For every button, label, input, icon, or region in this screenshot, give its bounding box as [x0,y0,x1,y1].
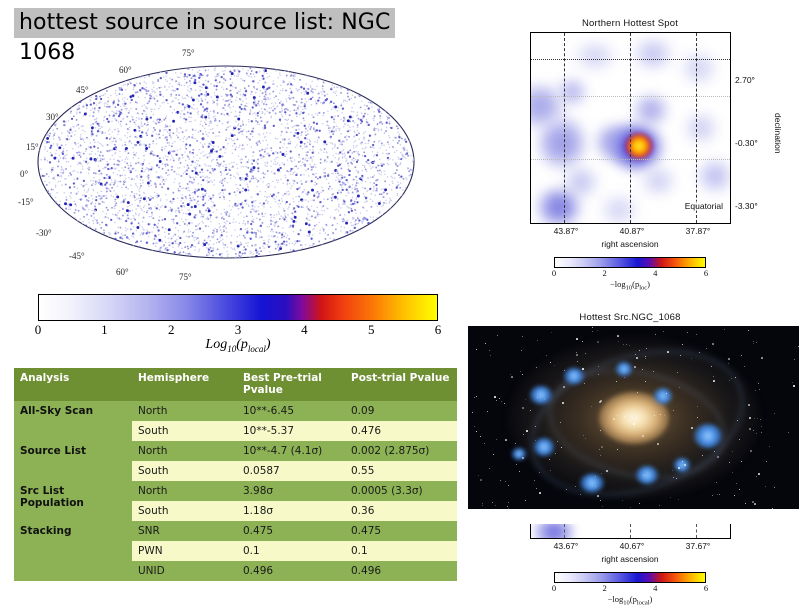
group-label-src-list-population: Src List Population [14,481,132,521]
ra-tick-3: 37.87° [686,226,711,236]
ra-tick-1: 43.67° [554,541,579,551]
cb-label-prefix: −log [608,594,624,604]
colorbar-tick-3: 3 [235,322,242,338]
table-row: Source List North 10**-4.7 (4.1σ) 0.002 … [14,441,457,461]
colorbar-label-suffix: (p [236,337,248,352]
ra-tick-3: 37.67° [686,541,711,551]
cb-label-end: ) [650,594,653,604]
panel-title-northern-hottest-spot: Northern Hottest Spot [530,18,730,29]
ngc-1068-panel: Hottest Src.NGC_1068 [530,312,730,607]
ra-tick-row: 43.67° 40.67° 37.67° [530,541,730,554]
all-sky-scan-map: 75° 60° 45° 30° 15° 0° -15° -30° -45° 60… [14,42,434,280]
svg-text:45°: 45° [76,85,89,95]
colorbar-tick-2: 2 [168,322,175,338]
cell-pretrial: 0.0587 [237,461,345,481]
colorbar-gradient [554,257,706,268]
ra-tick-1: 43.87° [554,226,579,236]
cell-pretrial: 0.1 [237,541,345,561]
colorbar-label-prefix: Log [205,337,227,352]
coord-system-label: Equatorial [683,201,725,211]
title-line-1: hottest source in source list: NGC [14,8,395,38]
ngc-1068-image [468,326,799,509]
svg-text:0°: 0° [20,169,29,179]
star-forming-knot [530,386,552,404]
ra-axis-label: right ascension [530,554,730,564]
cb-tick-6: 6 [704,583,708,593]
table-row: Stacking SNR 0.475 0.475 [14,521,457,541]
colorbar-ticks: 0 2 4 6 [554,583,706,595]
colorbar-gradient [554,572,706,583]
star-forming-knot [580,474,604,492]
mollweide-svg: 75° 60° 45° 30° 15° 0° -15° -30° -45° 60… [14,42,434,280]
svg-text:-30°: -30° [36,228,52,238]
cell-hemisphere: SNR [132,521,237,541]
table-row: All-Sky Scan North 10**-6.45 0.09 [14,401,457,421]
svg-text:-45°: -45° [69,251,85,261]
cell-hemisphere: North [132,441,237,461]
colorbar-label-end: ) [266,337,271,352]
star-forming-knot [564,368,584,384]
colorbar-axis-label: Log10(plocal) [38,337,438,354]
group-label-all-sky-scan: All-Sky Scan [14,401,132,441]
colorbar-label-sub2: local [248,344,266,354]
ra-tick-2: 40.67° [620,541,645,551]
cell-posttrial: 0.496 [345,561,457,581]
cell-posttrial: 0.476 [345,421,457,441]
dec-tick-3: -3.30° [735,201,758,211]
table-body: All-Sky Scan North 10**-6.45 0.09 South … [14,401,457,581]
cell-pretrial: 0.475 [237,521,345,541]
cell-hemisphere: South [132,461,237,481]
svg-text:60°: 60° [119,65,132,75]
svg-text:60°: 60° [116,267,129,277]
svg-text:75°: 75° [179,272,192,280]
svg-text:15°: 15° [26,142,39,152]
colorbar-ticks: 0 2 4 6 [554,268,706,280]
svg-text:-15°: -15° [18,197,34,207]
colorbar-tick-5: 5 [368,322,375,338]
cb-label-mid: (p [630,594,637,604]
svg-text:30°: 30° [46,112,59,122]
cell-pretrial: 10**-6.45 [237,401,345,421]
cb-label-prefix: −log [610,279,626,289]
cb-tick-4: 4 [653,268,657,278]
dec-tick-1: 2.70° [735,75,755,85]
cb-tick-4: 4 [653,583,657,593]
cell-pretrial: 10**-4.7 (4.1σ) [237,441,345,461]
cell-posttrial: 0.55 [345,461,457,481]
ra-tick-row: 43.87° 40.87° 37.87° [530,226,730,239]
northern-hottest-spot-plot: Equatorial [530,32,731,224]
star-forming-knot [534,438,554,456]
cell-posttrial: 0.36 [345,501,457,521]
cb-label-sub2: loc [639,285,647,292]
ra-axis-label: right ascension [530,239,730,249]
cb-label-sub2: local [637,600,650,607]
cell-posttrial: 0.475 [345,521,457,541]
cell-posttrial: 0.1 [345,541,457,561]
column-header-posttrial: Post-trial Pvalue [345,368,457,401]
cell-hemisphere: North [132,481,237,501]
colorbar-axis-label: −log10(ploc) [554,279,706,292]
table-header-row: Analysis Hemisphere Best Pre-trial Pvalu… [14,368,457,401]
dec-tick-2: -0.30° [735,138,758,148]
cell-hemisphere: South [132,501,237,521]
all-sky-colorbar: 0 1 2 3 4 5 6 Log10(plocal) [38,294,438,354]
group-label-source-list: Source List [14,441,132,481]
cb-tick-2: 2 [602,268,606,278]
column-header-pretrial: Best Pre-trial Pvalue [237,368,345,401]
presentation-slide: hottest source in source list: NGC 1068 … [0,0,799,600]
colorbar-ticks: 0 1 2 3 4 5 6 [38,321,438,336]
cell-pretrial: 10**-5.37 [237,421,345,441]
colorbar-tick-6: 6 [435,322,442,338]
cb-label-end: ) [647,279,650,289]
cell-hemisphere: UNID [132,561,237,581]
svg-text:75°: 75° [182,48,195,58]
cell-pretrial: 3.98σ [237,481,345,501]
column-header-analysis: Analysis [14,368,132,401]
cell-posttrial: 0.0005 (3.3σ) [345,481,457,501]
cb-tick-0: 0 [552,583,556,593]
star-forming-knot [636,466,658,484]
northern-hotspot-colorbar: 0 2 4 6 −log10(ploc) [554,257,706,292]
dec-axis-label: declination [773,113,783,154]
star-forming-knot [512,448,526,460]
significance-strip-bottom [530,524,731,539]
star-forming-knot [616,362,632,376]
colorbar-tick-4: 4 [301,322,308,338]
cell-pretrial: 1.18σ [237,501,345,521]
cell-posttrial: 0.09 [345,401,457,421]
star-forming-knot [654,388,672,404]
cell-hemisphere: South [132,421,237,441]
colorbar-tick-1: 1 [101,322,108,338]
cell-pretrial: 0.496 [237,561,345,581]
colorbar-tick-0: 0 [35,322,42,338]
cb-tick-6: 6 [704,268,708,278]
cell-hemisphere: PWN [132,541,237,561]
cell-posttrial: 0.002 (2.875σ) [345,441,457,461]
cell-hemisphere: North [132,401,237,421]
table-row: Src List Population North 3.98σ 0.0005 (… [14,481,457,501]
colorbar-gradient [38,294,438,321]
colorbar-label-sub: 10 [227,344,236,354]
panel-title-hottest-src: Hottest Src.NGC_1068 [530,312,730,323]
results-table: Analysis Hemisphere Best Pre-trial Pvalu… [14,368,457,581]
northern-hottest-spot-panel: Northern Hottest Spot Equato [530,18,730,292]
ngc-1068-colorbar: 0 2 4 6 −log10(plocal) [554,572,706,607]
column-header-hemisphere: Hemisphere [132,368,237,401]
cb-tick-0: 0 [552,268,556,278]
group-label-stacking: Stacking [14,521,132,581]
star-forming-knot [694,424,722,448]
cb-tick-2: 2 [602,583,606,593]
ra-tick-2: 40.87° [620,226,645,236]
colorbar-axis-label: −log10(plocal) [554,594,706,607]
